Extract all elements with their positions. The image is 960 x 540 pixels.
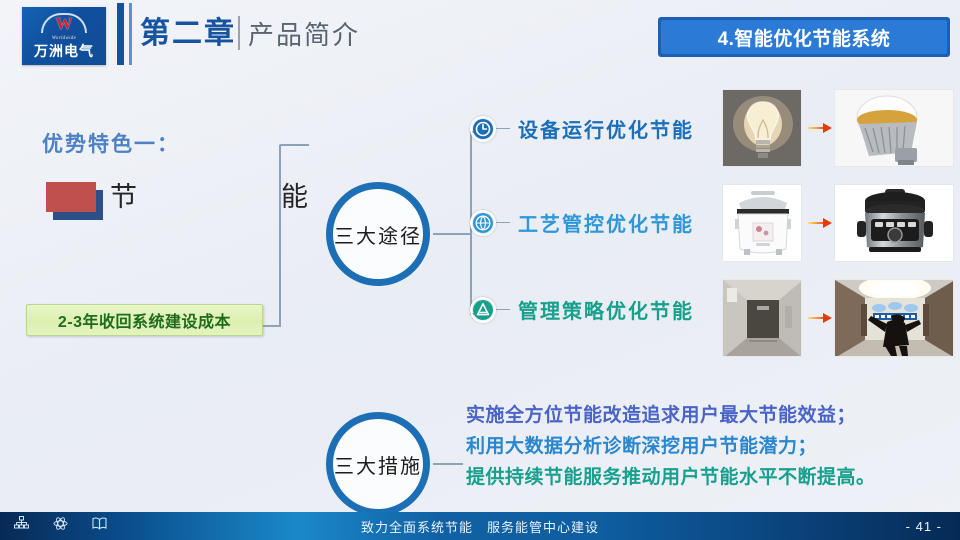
path-item-dash [496,309,510,311]
dark-corridor-photo [722,279,802,357]
bracket-left-top [279,144,309,146]
incandescent-bulb-photo [722,89,802,167]
gear-icon[interactable] [53,516,68,536]
footer-slogan: 致力全面系统节能 服务能管中心建设 [0,517,960,536]
path-item-label: 管理策略优化节能 [518,295,694,324]
sitemap-icon[interactable] [14,516,29,536]
header-divider-thick [117,3,124,65]
logo-tagline: Worldwide [52,36,76,41]
logo-company-name: 万洲电气 [34,43,94,59]
node-three-measures-label: 三大措施 [334,450,422,479]
path-item-label: 工艺管控优化节能 [518,208,694,237]
company-logo: W Worldwide 万洲电气 [22,7,106,65]
node-three-measures[interactable]: 三大措施 [326,412,430,516]
orange-arrow-icon [808,122,832,134]
slide-canvas: W Worldwide 万洲电气 第二章 产品简介 4.智能优化节能系统 优势特… [0,0,960,540]
photo-pair-lighting [722,89,954,167]
accent-square-red [46,182,96,212]
clock-icon [470,116,496,142]
pressure-cooker-photo [834,184,954,262]
feature-keyword: 节 能 [110,180,338,214]
connector-measures [433,463,463,465]
chapter-title: 第二章 [140,16,236,52]
roi-callout-label: 2-3年收回系统建设成本 [58,308,231,332]
path-item-process[interactable]: 工艺管控优化节能 [470,208,694,237]
header-divider-thin [129,3,132,65]
photo-pair-corridor [722,279,954,357]
book-icon[interactable] [92,516,107,536]
path-item-management[interactable]: 管理策略优化节能 [470,295,694,324]
path-item-equipment[interactable]: 设备运行优化节能 [470,114,694,143]
connector-paths [433,233,471,235]
logo-mark-icon: W [41,13,87,35]
statements-block: 实施全方位节能改造追求用户最大节能效益； 利用大数据分析诊断深挖用户节能潜力； … [466,400,876,493]
section-banner-label: 4.智能优化节能系统 [718,24,891,51]
lit-corridor-photo [834,279,954,357]
gauge-icon [470,210,496,236]
node-three-paths[interactable]: 三大途径 [326,182,430,286]
section-banner-inner: 4.智能优化节能系统 [661,20,947,54]
section-banner: 4.智能优化节能系统 [658,17,950,57]
bracket-left-bottom [263,325,281,327]
rice-cooker-photo [722,184,802,262]
statement-line-1: 实施全方位节能改造追求用户最大节能效益； [466,400,876,431]
path-item-dash [496,128,510,130]
slide-footer: 致力全面系统节能 服务能管中心建设 - 41 - [0,512,960,540]
led-bulb-photo [834,89,954,167]
node-three-paths-label: 三大途径 [334,220,422,249]
statement-line-3: 提供持续节能服务推动用户节能水平不断提高。 [466,462,876,493]
logo-letter: W [41,15,87,33]
statement-line-2: 利用大数据分析诊断深挖用户节能潜力； [466,431,876,462]
title-separator [238,16,240,50]
photo-pair-cooker [722,184,954,262]
feature-heading: 优势特色一： [42,128,180,158]
path-item-dash [496,222,510,224]
roi-callout: 2-3年收回系统建设成本 [26,304,263,336]
chapter-subtitle: 产品简介 [248,18,360,52]
orange-arrow-icon [808,217,832,229]
bracket-left-vertical [279,145,281,326]
footer-icon-group [14,516,107,536]
orange-arrow-icon [808,312,832,324]
path-item-label: 设备运行优化节能 [518,114,694,143]
triangle-icon [470,297,496,323]
slide-page-number: - 41 - [906,519,942,534]
